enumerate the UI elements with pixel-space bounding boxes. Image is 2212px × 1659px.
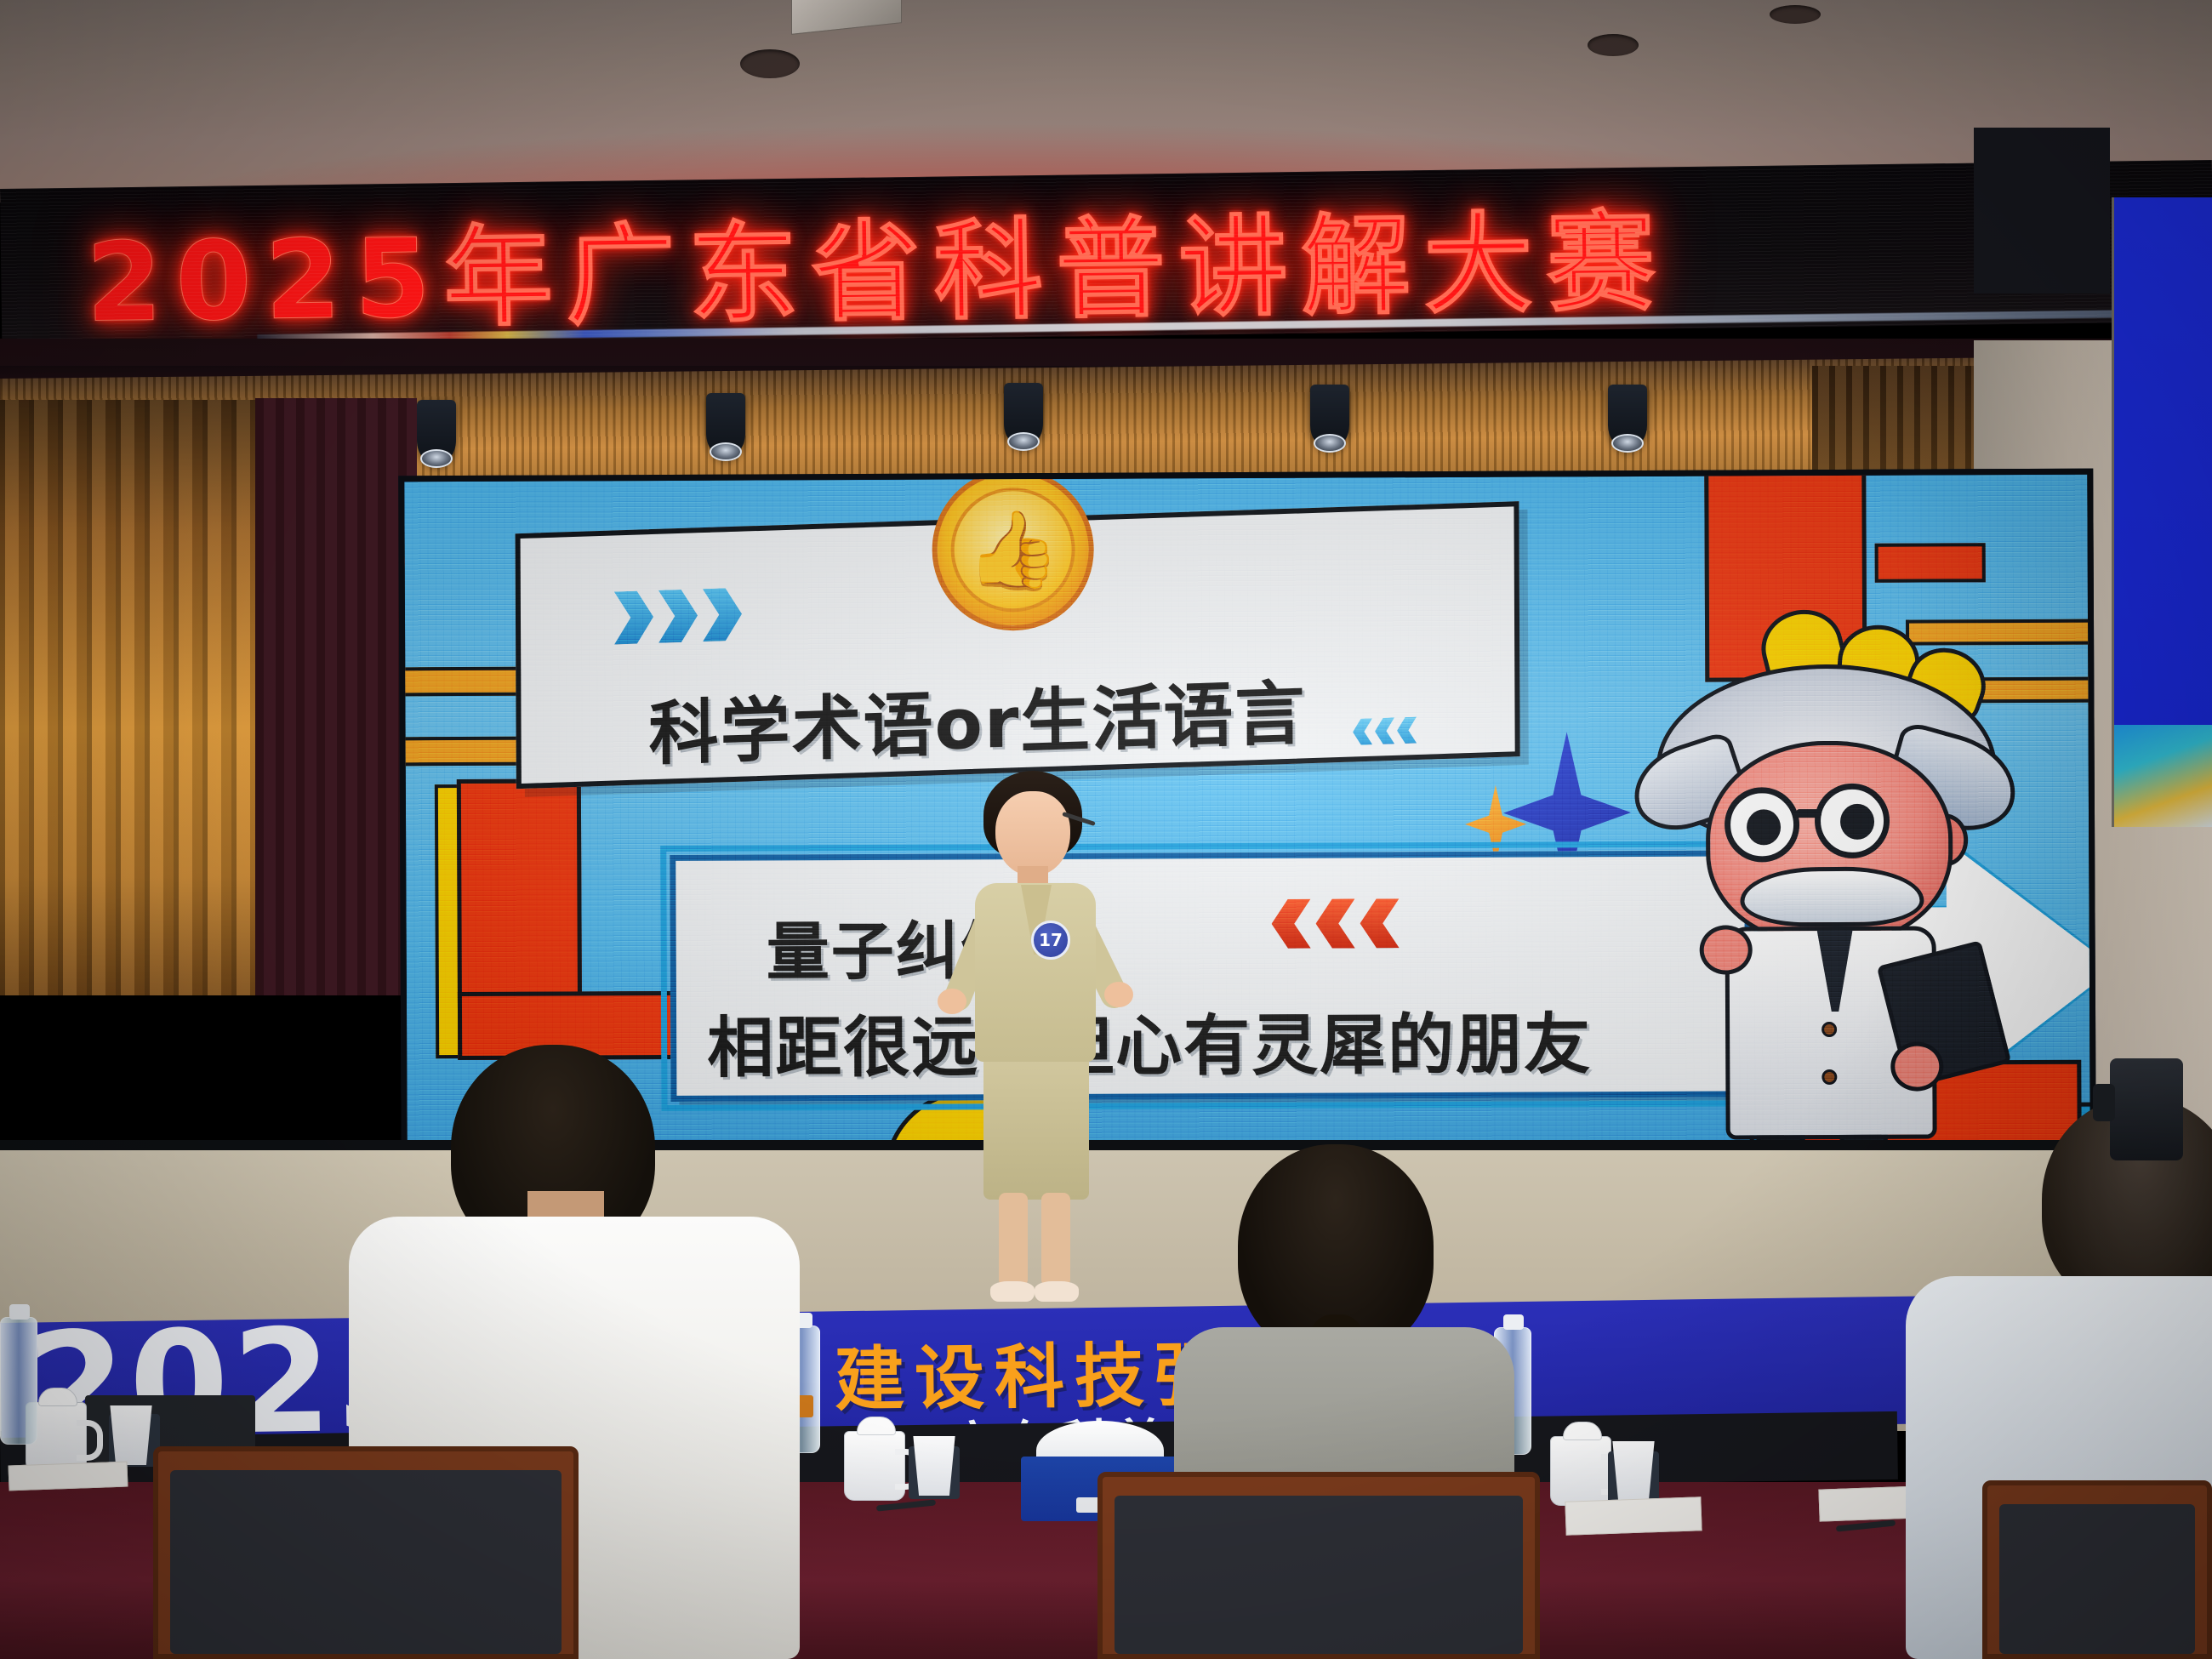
water-bottle xyxy=(0,1317,37,1445)
side-display-banner xyxy=(2112,197,2212,827)
led-banner-bottom-strip xyxy=(257,309,2180,342)
presenter-shoe-right xyxy=(1035,1281,1079,1302)
mascot-coat-button xyxy=(1821,1069,1837,1085)
presenter-face xyxy=(995,791,1070,876)
slide-heading-top: 科学术语or生活语言 xyxy=(648,656,1306,778)
einstein-scientist-mascot xyxy=(1645,585,2013,1063)
auditorium-scene: 2025年广东省科普讲解大赛 xyxy=(0,0,2212,1659)
ceiling-vent xyxy=(791,0,902,35)
presenter-hand-right xyxy=(1104,982,1133,1007)
stage-spotlight-icon xyxy=(417,400,456,465)
thumbs-up-glyph: 👍 xyxy=(966,512,1060,587)
note-paper xyxy=(1565,1497,1702,1536)
note-paper xyxy=(9,1462,128,1491)
presentation-led-screen: 科学术语or生活语言 👍 量子纠缠? 相距很远，但心有灵犀的朋友 xyxy=(398,469,2095,1159)
presenter-leg-left xyxy=(999,1193,1028,1286)
chevron-left-triple-red-icon xyxy=(1271,898,1399,949)
mascot-eye-left xyxy=(1747,809,1781,845)
recessed-ceiling-light xyxy=(1770,5,1821,24)
thumbs-up-rosette-icon: 👍 xyxy=(932,469,1094,631)
led-banner-text: 2025年广东省科普讲解大赛 xyxy=(85,174,1670,351)
mascot-eye-right xyxy=(1840,804,1874,840)
presenter-leg-right xyxy=(1041,1193,1070,1286)
chair-cushion xyxy=(1999,1504,2195,1654)
chair-cushion xyxy=(1115,1496,1523,1654)
mascot-hand-left xyxy=(1700,925,1753,974)
tea-mug xyxy=(844,1431,905,1501)
mascot-coat-button xyxy=(1821,1022,1837,1037)
stage-spotlight-icon xyxy=(1608,385,1647,449)
chevron-right-triple-blue-icon xyxy=(614,588,742,645)
upper-dark-panel-right xyxy=(1974,128,2110,294)
stage-curtain-left-dark xyxy=(255,398,417,995)
chair xyxy=(1097,1472,1540,1659)
mascot-glasses-bridge xyxy=(1796,809,1821,818)
mascot-hand-right xyxy=(1890,1041,1943,1091)
chair-cushion xyxy=(170,1470,562,1654)
recessed-ceiling-light xyxy=(740,49,800,78)
presenter-hand-left xyxy=(938,989,966,1014)
stage-spotlight-icon xyxy=(1004,383,1043,448)
slide-line-2: 相距很远，但心有灵犀的朋友 xyxy=(707,991,1592,1091)
presenter: 17 xyxy=(953,776,1115,1286)
mascot-mustache xyxy=(1740,867,1924,927)
chair xyxy=(153,1446,579,1659)
chair xyxy=(1982,1480,2212,1659)
stage-spotlight-icon xyxy=(706,393,745,458)
contestant-number-badge: 17 xyxy=(1031,921,1070,960)
chevron-left-triple-blue-icon xyxy=(1353,717,1417,745)
recessed-ceiling-light xyxy=(1588,34,1639,56)
presenter-skirt xyxy=(983,1046,1089,1200)
stage-spotlight-icon xyxy=(1310,385,1349,449)
video-camera xyxy=(2110,1058,2183,1160)
led-marquee-banner: 2025年广东省科普讲解大赛 xyxy=(0,160,2212,351)
slide-card-bottom: 量子纠缠? 相距很远，但心有灵犀的朋友 xyxy=(670,850,1751,1102)
presenter-shoe-left xyxy=(990,1281,1035,1302)
deco-bar-red-top-right xyxy=(1875,543,1986,583)
tea-mug xyxy=(1550,1436,1611,1506)
